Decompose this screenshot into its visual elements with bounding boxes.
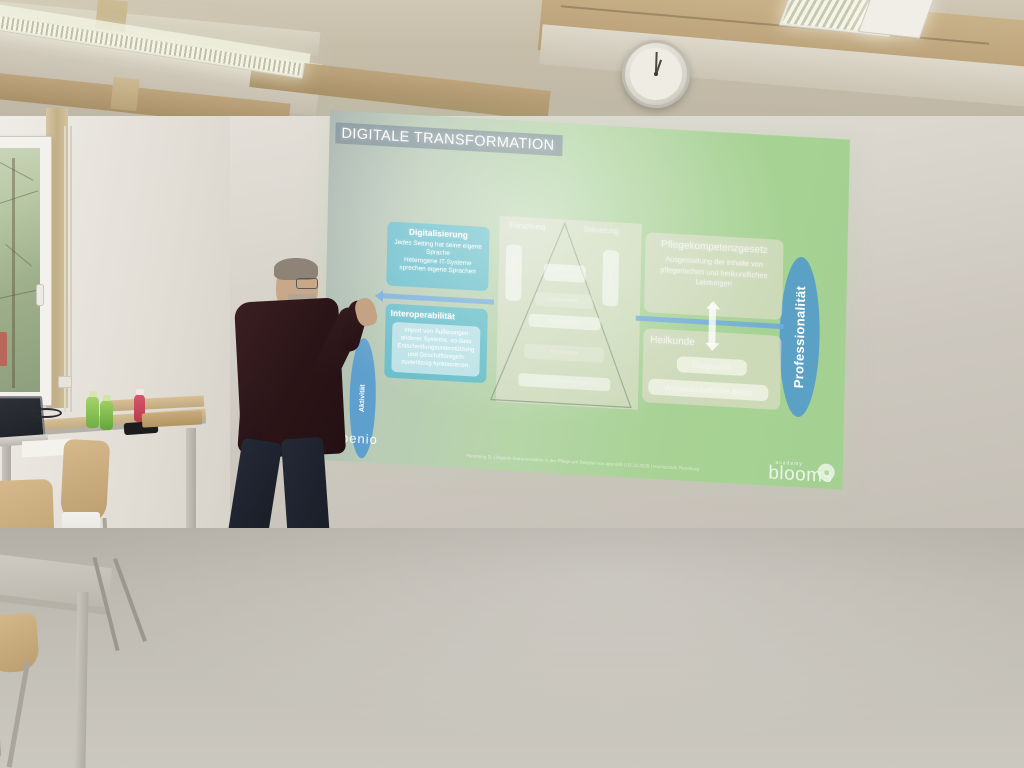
arrow-vertical-center: [708, 308, 716, 344]
arrow-head-down: [705, 343, 719, 352]
green-bottle-1: [86, 396, 99, 428]
pyramid-sidechip-left: Wissenschaft: [505, 244, 522, 301]
room-scene: DIGITALE TRANSFORMATION Aktivität Profes…: [0, 0, 1024, 768]
window-red-object: [0, 332, 7, 366]
green-bottle-2: [100, 400, 113, 430]
tree-trunk: [12, 158, 15, 388]
arrow-head-left: [375, 289, 383, 301]
box-pflegekompetenzgesetz-body: Ausgestaltung der Inhalte von pflegerisc…: [652, 254, 777, 293]
bottle-cap: [136, 389, 144, 395]
window-glass: [0, 148, 40, 392]
bottle-cap: [89, 391, 97, 397]
presenter-hair: [274, 258, 318, 280]
pyramid-level-1: Leitlinien / Standards: [544, 263, 586, 282]
projected-slide: DIGITALE TRANSFORMATION Aktivität Profes…: [322, 110, 850, 490]
tree-branch: [0, 162, 34, 181]
wall-cable: [70, 126, 72, 412]
pyramid-sidechip-right: Management: [602, 250, 619, 307]
wall-cable: [64, 126, 66, 412]
bottle-cap: [103, 395, 111, 401]
window-handle[interactable]: [36, 284, 44, 306]
pyramid-sidechip-right-label: Management: [607, 263, 614, 294]
tree-branch: [5, 244, 32, 267]
pyramid-sidechip-left-label: Wissenschaft: [510, 257, 517, 288]
desk-cable-coil: [30, 408, 62, 418]
ceiling-beam-vertical-mid: [110, 77, 139, 112]
arrow-head-up: [706, 301, 720, 310]
floor-reflection: [0, 528, 1024, 768]
wall-socket[interactable]: [58, 376, 72, 388]
blooms-logo: academy blooms: [768, 459, 833, 485]
presenter-glasses: [296, 278, 318, 289]
projection-area: DIGITALE TRANSFORMATION Aktivität Profes…: [330, 110, 850, 460]
tree-branch: [0, 190, 38, 205]
tree-branch: [0, 290, 37, 299]
